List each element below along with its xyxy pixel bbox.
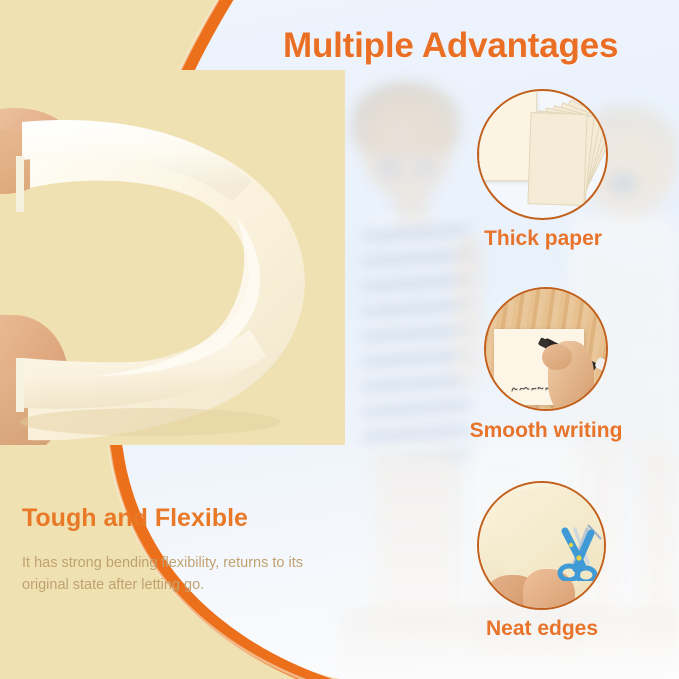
- feature-label-smooth-writing: Smooth writing: [442, 419, 650, 443]
- infographic-canvas: Multiple Advantages Tough and Flexible I…: [0, 0, 679, 679]
- feature-neat-edges: Neat edges: [477, 481, 607, 651]
- paper-stack-icon: [479, 91, 606, 218]
- left-heading: Tough and Flexible: [22, 504, 248, 533]
- page-title: Multiple Advantages: [283, 26, 675, 66]
- feature-label-neat-edges: Neat edges: [449, 617, 635, 641]
- feature-image-ring-2: [484, 287, 608, 411]
- feature-image-ring-1: [477, 89, 608, 220]
- writing-fingers: [542, 344, 572, 370]
- feature-image-ring-3: [477, 481, 606, 610]
- feature-label-thick-paper: Thick paper: [449, 227, 637, 251]
- feature-smooth-writing: Smooth writing: [484, 287, 609, 449]
- feature-thick-paper: Thick paper: [477, 89, 609, 257]
- bending-paper-photo: [0, 70, 345, 445]
- left-body-text: It has strong bending flexibility, retur…: [22, 552, 342, 597]
- scissors-icon: [557, 523, 605, 581]
